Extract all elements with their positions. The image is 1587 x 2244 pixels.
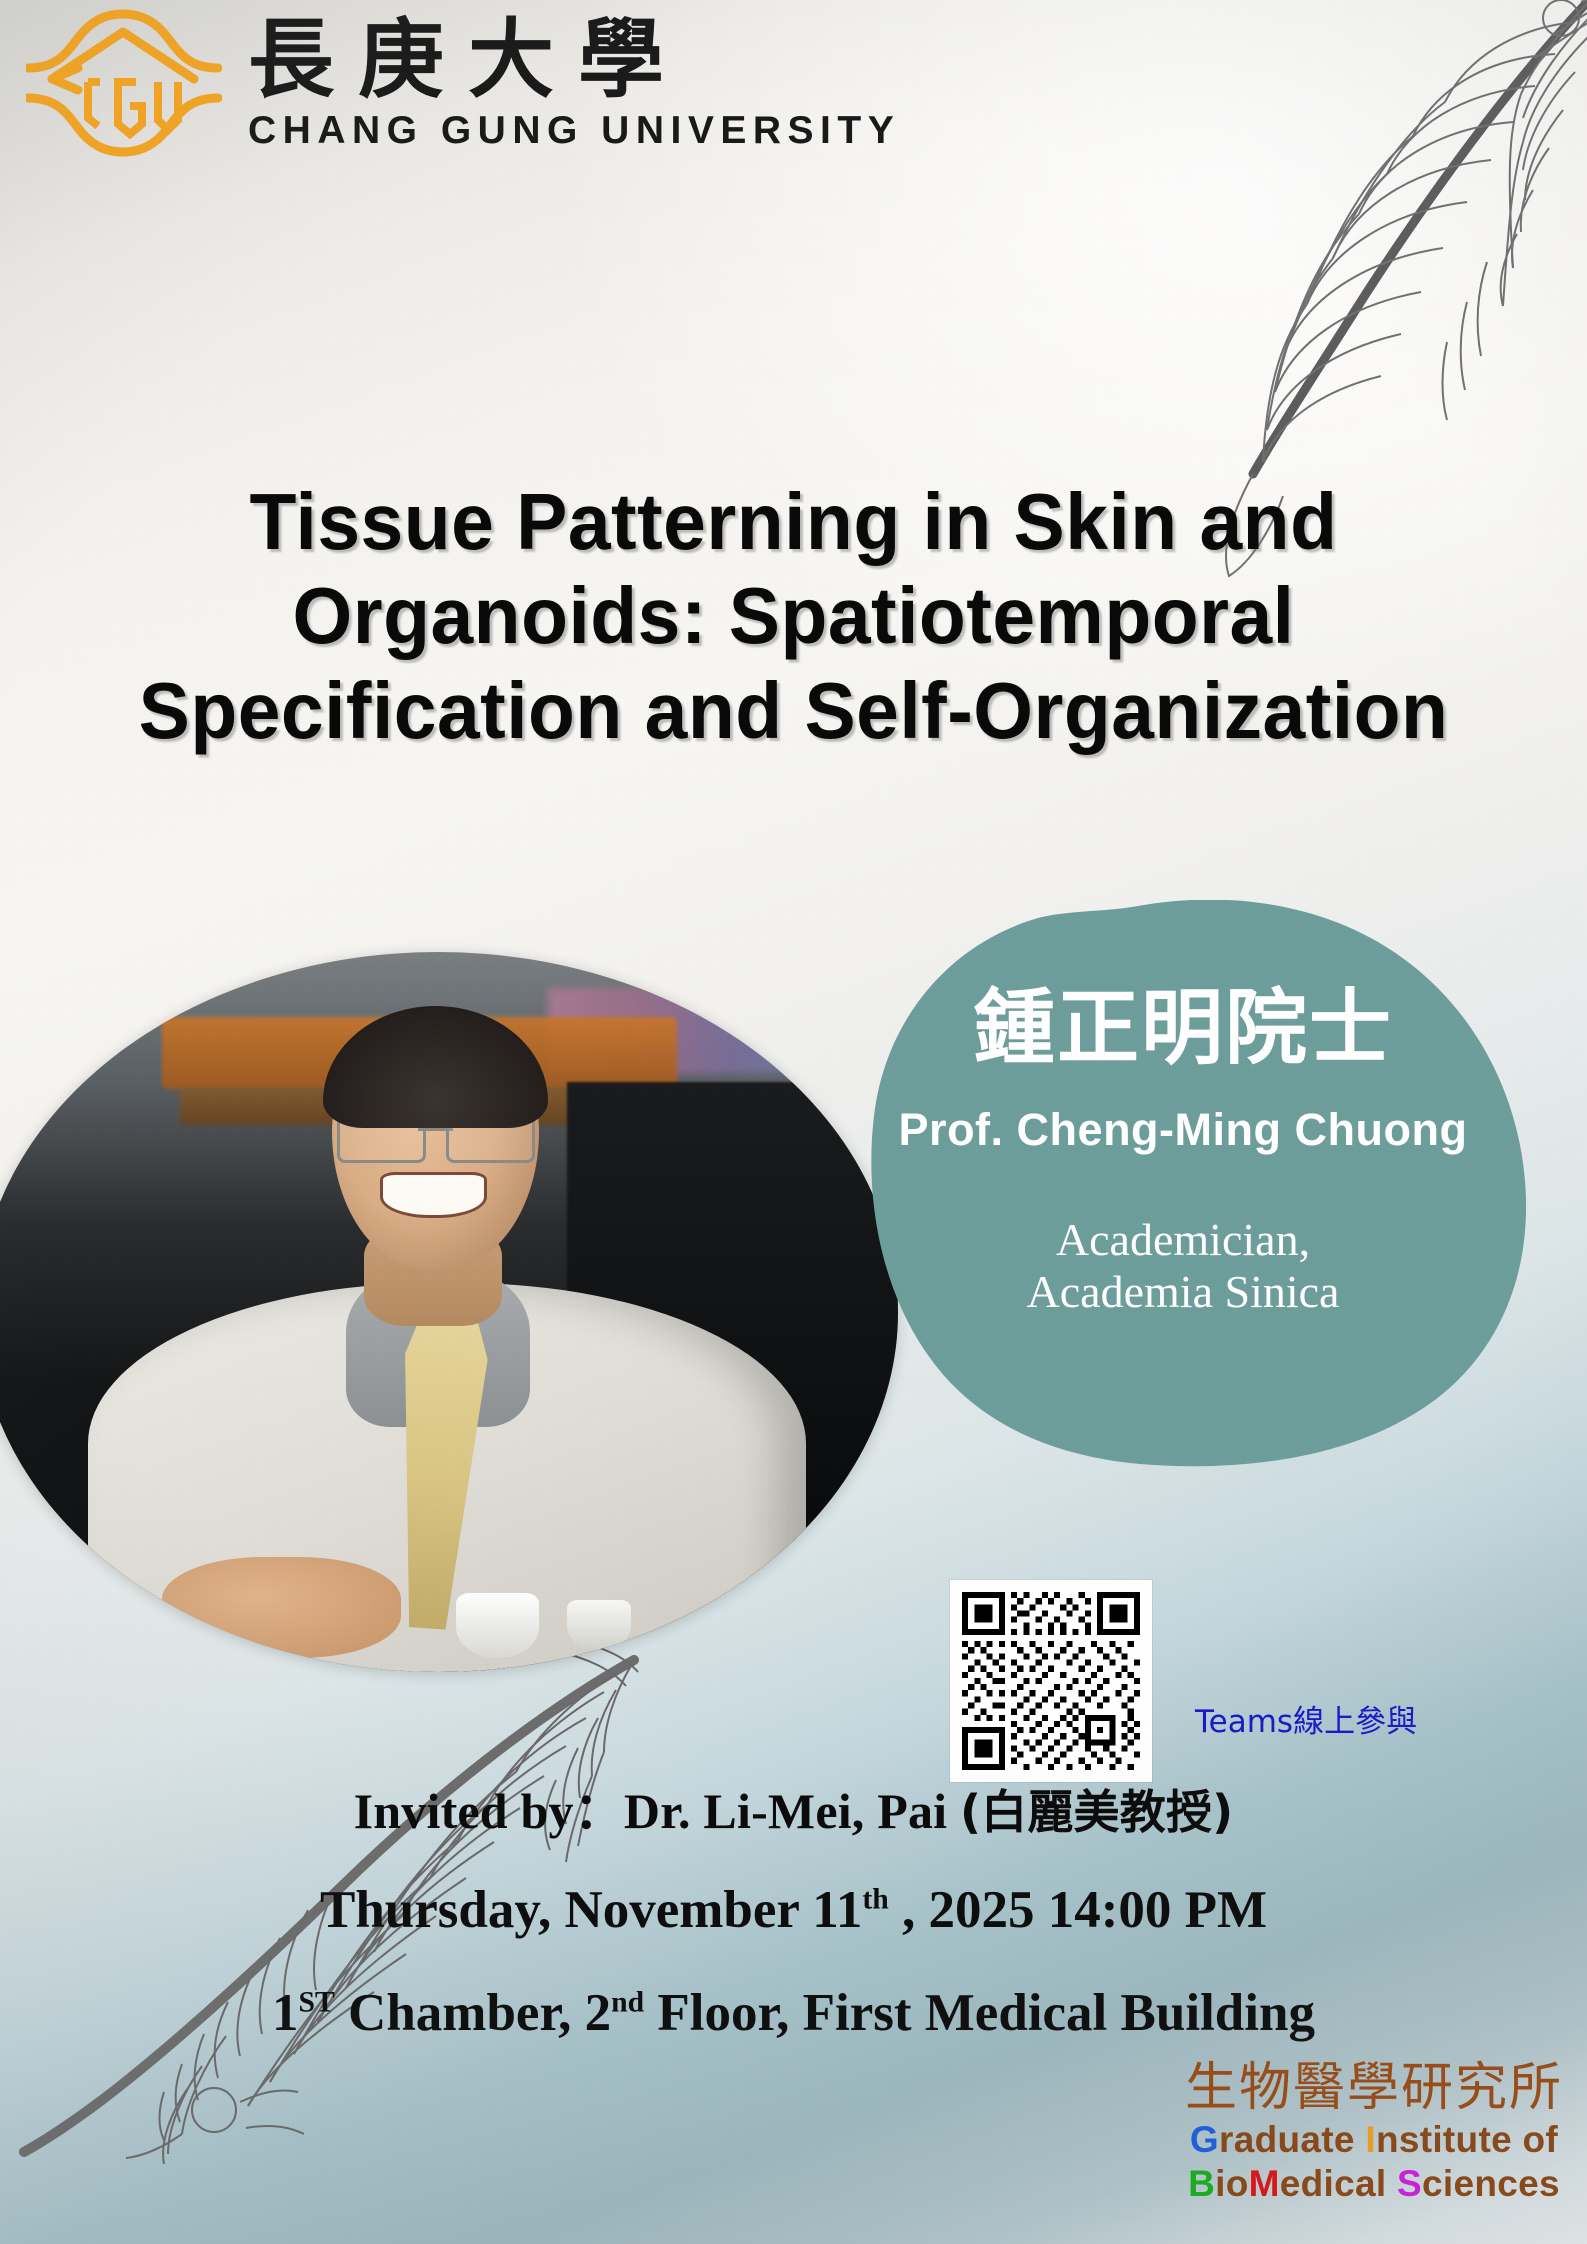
institute-logo: 生物醫學研究所 Graduate Institute of BioMedical… bbox=[1185, 2062, 1563, 2203]
event-datetime-line: Thursday, November 11th , 2025 14:00 PM bbox=[0, 1884, 1587, 1937]
affiliation-line-2: Academia Sinica bbox=[838, 1266, 1528, 1318]
institute-name-en-line-2: BioMedical Sciences bbox=[1185, 2165, 1563, 2203]
invited-by-cn: (白麗美教授) bbox=[960, 1785, 1233, 1839]
title-line-3: Specification and Self-Organization bbox=[32, 664, 1556, 758]
speaker-portrait-photo bbox=[0, 952, 898, 1672]
event-date-pre: Thursday, November 11 bbox=[320, 1881, 862, 1939]
venue-middle: Chamber, 2 bbox=[335, 1984, 611, 2042]
venue-end: Floor, First Medical Building bbox=[644, 1984, 1315, 2042]
institute-word-io: io bbox=[1215, 2163, 1248, 2204]
teams-join-label: Teams線上參與 bbox=[1195, 1696, 1417, 1741]
qr-code-icon[interactable] bbox=[950, 1580, 1152, 1782]
invited-by-text: Invited by：Dr. Li-Mei, Pai bbox=[354, 1783, 960, 1839]
institute-word-raduate: raduate bbox=[1219, 2119, 1365, 2160]
seminar-poster: 長庚大學 CHANG GUNG UNIVERSITY Tissue Patter… bbox=[0, 0, 1587, 2244]
institute-word-nstitute-of: nstitute of bbox=[1376, 2119, 1558, 2160]
speaker-name-en: Prof. Cheng-Ming Chuong bbox=[838, 1104, 1528, 1156]
university-name-en: CHANG GUNG UNIVERSITY bbox=[248, 111, 900, 150]
venue-number: 1 bbox=[272, 1984, 299, 2042]
institute-letter-s: S bbox=[1397, 2163, 1422, 2204]
institute-letter-b: B bbox=[1188, 2163, 1215, 2204]
event-date-post: , 2025 14:00 PM bbox=[889, 1881, 1267, 1939]
teams-join-block[interactable]: Teams線上參與 bbox=[950, 1580, 1152, 1782]
title-line-2: Organoids: Spatiotemporal bbox=[32, 569, 1556, 663]
venue-ordinal-2: nd bbox=[611, 1986, 644, 2018]
speaker-affiliation: Academician, Academia Sinica bbox=[838, 1214, 1528, 1317]
speaker-name-cn: 鍾正明院士 bbox=[838, 988, 1528, 1070]
event-date-ordinal: th bbox=[862, 1883, 888, 1915]
invited-by-line: Invited by：Dr. Li-Mei, Pai (白麗美教授) bbox=[0, 1786, 1587, 1836]
university-name-cn: 長庚大學 bbox=[248, 17, 900, 103]
institute-word-edical: edical bbox=[1280, 2163, 1397, 2204]
university-header: 長庚大學 CHANG GUNG UNIVERSITY bbox=[26, 8, 900, 158]
affiliation-line-1: Academician, bbox=[838, 1214, 1528, 1266]
event-venue-line: 1ST Chamber, 2nd Floor, First Medical Bu… bbox=[0, 1987, 1587, 2040]
poster-title: Tissue Patterning in Skin and Organoids:… bbox=[32, 475, 1556, 758]
institute-letter-m: M bbox=[1249, 2163, 1280, 2204]
institute-letter-i: I bbox=[1365, 2119, 1376, 2160]
event-details: Invited by：Dr. Li-Mei, Pai (白麗美教授) Thurs… bbox=[0, 1786, 1587, 2040]
speaker-callout-blob: 鍾正明院士 Prof. Cheng-Ming Chuong Academicia… bbox=[838, 900, 1528, 1470]
venue-ordinal-1: ST bbox=[299, 1986, 335, 2018]
institute-letter-g: G bbox=[1190, 2119, 1219, 2160]
institute-name-cn: 生物醫學研究所 bbox=[1185, 2062, 1563, 2115]
title-line-1: Tissue Patterning in Skin and bbox=[32, 475, 1556, 569]
institute-word-ciences: ciences bbox=[1422, 2163, 1560, 2204]
cgu-emblem-icon bbox=[26, 8, 222, 158]
qr-code-matrix bbox=[962, 1592, 1140, 1770]
institute-name-en-line-1: Graduate Institute of bbox=[1185, 2121, 1563, 2159]
